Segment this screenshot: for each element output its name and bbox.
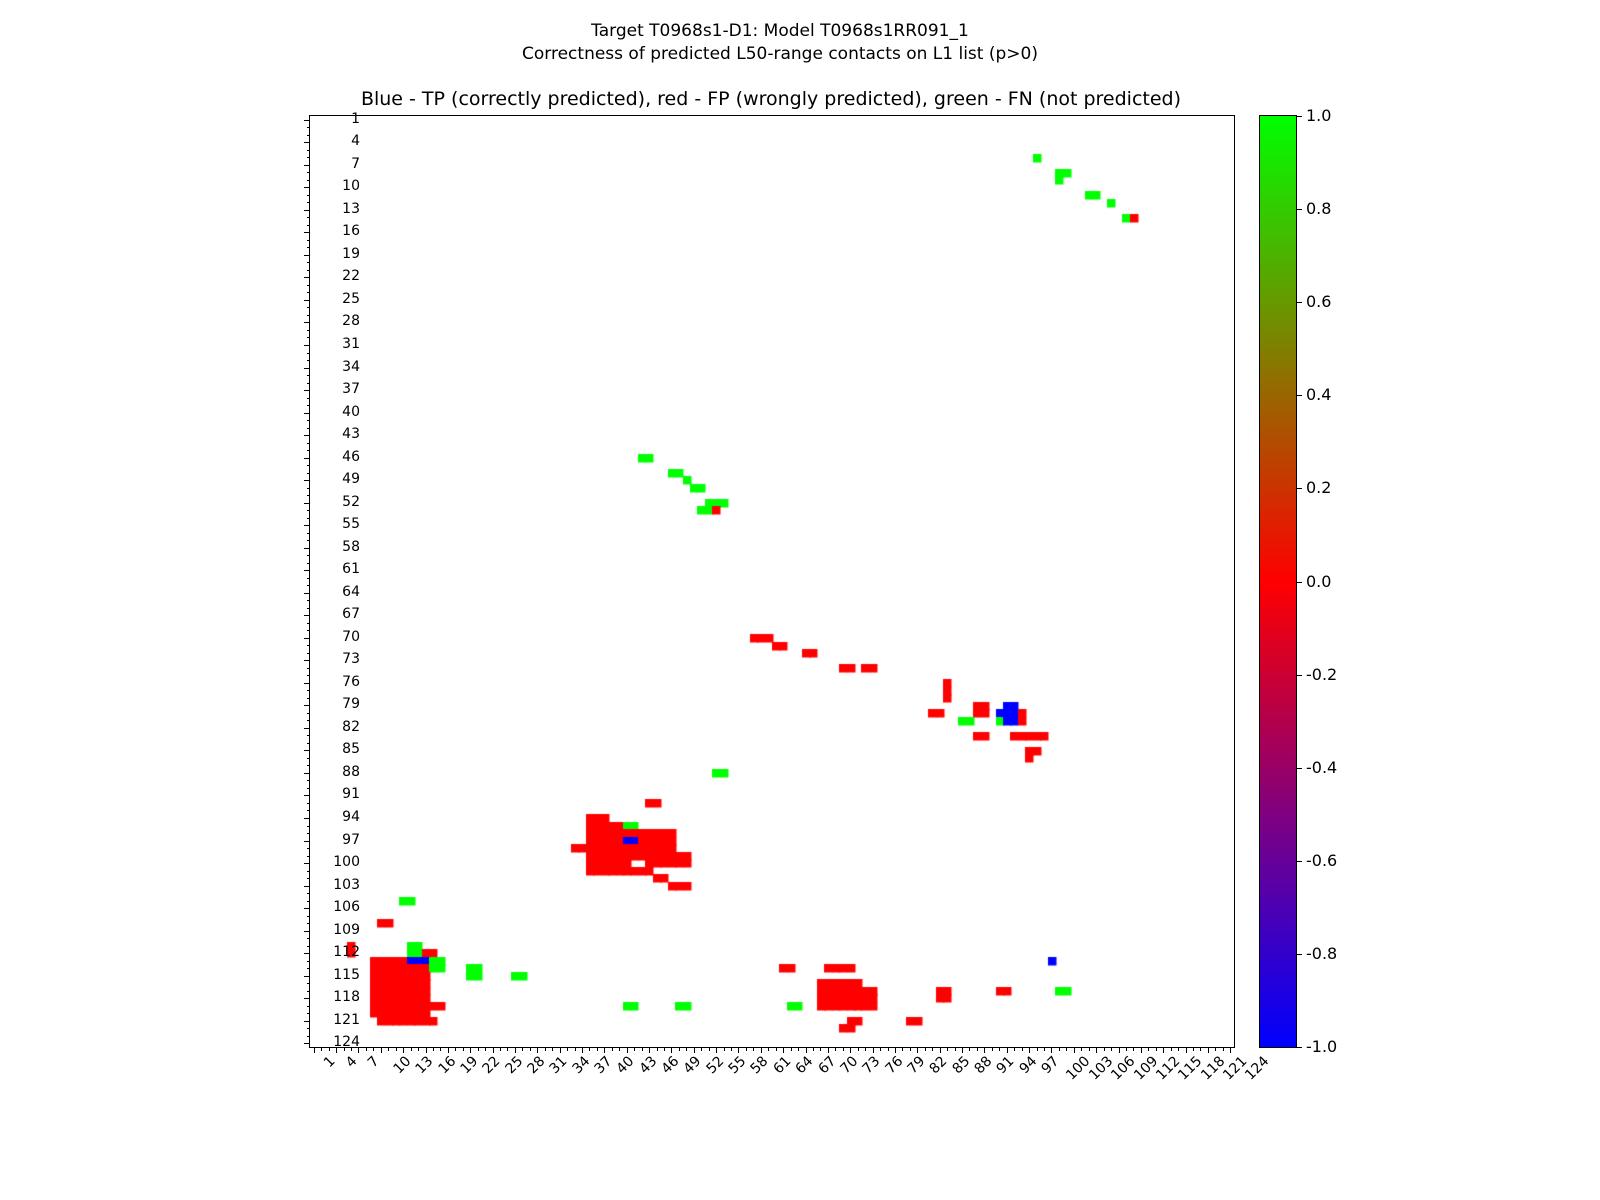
x-axis-major-tick [403,1047,404,1053]
x-axis-minor-tick [724,1047,725,1051]
x-axis-major-tick [1007,1047,1008,1053]
x-axis-minor-tick [1059,1047,1060,1051]
y-tick-label: 16 [300,224,360,238]
colorbar-gradient [1260,116,1296,1047]
x-tick-label: 67 [816,1054,839,1077]
y-tick-label: 106 [300,900,360,914]
x-axis-minor-tick [820,1047,821,1051]
colorbar-tick-label: -1.0 [1306,1039,1337,1055]
x-axis-minor-tick [1044,1047,1045,1051]
colorbar[interactable]: 1.00.80.60.40.20.0-0.2-0.4-0.6-0.8-1.0 [1259,115,1297,1048]
y-axis-minor-tick [307,871,311,872]
x-axis-major-tick [1163,1047,1164,1053]
x-axis-minor-tick [1200,1047,1201,1051]
x-axis-minor-tick [463,1047,464,1051]
y-tick-label: 13 [300,202,360,216]
y-axis-minor-tick [307,555,311,556]
x-axis-major-tick [1208,1047,1209,1053]
y-tick-label: 28 [300,314,360,328]
x-axis-minor-tick [567,1047,568,1051]
y-tick-label: 58 [300,540,360,554]
y-axis-minor-tick [307,713,311,714]
x-tick-label: 13 [413,1054,436,1077]
x-tick-label: 19 [458,1054,481,1077]
x-axis-minor-tick [545,1047,546,1051]
x-axis-major-tick [828,1047,829,1053]
x-axis-minor-tick [947,1047,948,1051]
colorbar-tick [1296,861,1302,862]
y-tick-label: 46 [300,450,360,464]
x-axis-minor-tick [440,1047,441,1051]
x-axis-minor-tick [411,1047,412,1051]
x-axis-minor-tick [485,1047,486,1051]
x-axis-minor-tick [388,1047,389,1051]
y-tick-label: 112 [300,945,360,959]
y-tick-label: 1 [300,112,360,126]
y-axis-minor-tick [307,938,311,939]
x-axis-minor-tick [1156,1047,1157,1051]
y-tick-label: 25 [300,292,360,306]
x-axis-minor-tick [455,1047,456,1051]
x-tick-label: 88 [972,1054,995,1077]
colorbar-tick [1296,488,1302,489]
y-tick-label: 40 [300,405,360,419]
x-axis-major-tick [649,1047,650,1053]
x-axis-minor-tick [1066,1047,1067,1051]
colorbar-tick-label: 0.2 [1306,480,1331,496]
y-axis-minor-tick [307,826,311,827]
x-axis-major-tick [470,1047,471,1053]
x-axis-minor-tick [530,1047,531,1051]
y-axis-minor-tick [307,443,311,444]
x-axis-minor-tick [776,1047,777,1051]
y-axis-minor-tick [307,172,311,173]
x-axis-minor-tick [858,1047,859,1051]
x-axis-minor-tick [999,1047,1000,1051]
x-axis-minor-tick [902,1047,903,1051]
x-tick-label: 37 [592,1054,615,1077]
y-axis-minor-tick [307,780,311,781]
x-axis-minor-tick [500,1047,501,1051]
x-axis-minor-tick [1133,1047,1134,1051]
x-tick-label: 7 [366,1054,382,1070]
y-tick-label: 85 [300,742,360,756]
figure-suptitle: Target T0968s1-D1: Model T0968s1RR091_1 … [0,20,1560,66]
y-tick-label: 19 [300,247,360,261]
x-axis-minor-tick [597,1047,598,1051]
contact-map-plot-area[interactable] [309,115,1235,1048]
y-tick-label: 118 [300,990,360,1004]
y-tick-label: 100 [300,855,360,869]
y-tick-label: 37 [300,382,360,396]
x-axis-minor-tick [366,1047,367,1051]
y-axis-minor-tick [307,623,311,624]
x-axis-minor-tick [575,1047,576,1051]
x-axis-minor-tick [1037,1047,1038,1051]
x-axis-major-tick [515,1047,516,1053]
x-tick-label: 64 [793,1054,816,1077]
y-axis-minor-tick [307,420,311,421]
x-axis-minor-tick [880,1047,881,1051]
x-tick-label: 10 [391,1054,414,1077]
x-axis-minor-tick [642,1047,643,1051]
x-tick-label: 25 [503,1054,526,1077]
x-axis-major-tick [694,1047,695,1053]
y-tick-label: 76 [300,675,360,689]
y-axis-minor-tick [307,1006,311,1007]
axes-title-legend: Blue - TP (correctly predicted), red - F… [309,88,1233,110]
y-tick-label: 55 [300,517,360,531]
x-axis-minor-tick [507,1047,508,1051]
x-axis-minor-tick [1089,1047,1090,1051]
x-axis-minor-tick [1171,1047,1172,1051]
x-axis-major-tick [627,1047,628,1053]
y-axis-minor-tick [307,307,311,308]
y-tick-label: 43 [300,427,360,441]
x-axis-major-tick [493,1047,494,1053]
colorbar-tick [1296,768,1302,769]
y-axis-minor-tick [307,645,311,646]
y-tick-label: 49 [300,472,360,486]
x-axis-minor-tick [843,1047,844,1051]
y-tick-label: 103 [300,878,360,892]
x-tick-label: 73 [860,1054,883,1077]
y-tick-label: 82 [300,720,360,734]
x-axis-minor-tick [1215,1047,1216,1051]
x-axis-major-tick [873,1047,874,1053]
y-axis-minor-tick [307,533,311,534]
y-axis-minor-tick [307,240,311,241]
colorbar-tick-label: -0.6 [1306,853,1337,869]
y-axis-minor-tick [307,578,311,579]
x-axis-minor-tick [612,1047,613,1051]
x-axis-minor-tick [791,1047,792,1051]
x-axis-major-tick [1051,1047,1052,1053]
colorbar-tick-label: 0.0 [1306,574,1331,590]
x-axis-major-tick [426,1047,427,1053]
x-axis-major-tick [984,1047,985,1053]
colorbar-tick [1296,1047,1302,1048]
contact-map-canvas[interactable] [310,116,1234,1047]
x-tick-label: 124 [1243,1054,1272,1083]
x-axis-minor-tick [1014,1047,1015,1051]
x-axis-minor-tick [865,1047,866,1051]
x-axis-major-tick [1119,1047,1120,1053]
x-axis-minor-tick [955,1047,956,1051]
colorbar-tick-label: 0.8 [1306,201,1331,217]
x-axis-minor-tick [522,1047,523,1051]
y-axis-minor-tick [307,961,311,962]
y-axis-minor-tick [307,465,311,466]
y-tick-label: 52 [300,495,360,509]
x-axis-major-tick [604,1047,605,1053]
x-axis-major-tick [671,1047,672,1053]
y-axis-minor-tick [307,353,311,354]
y-axis-minor-tick [307,217,311,218]
y-tick-label: 70 [300,630,360,644]
y-tick-label: 67 [300,607,360,621]
y-tick-label: 22 [300,269,360,283]
x-axis-minor-tick [373,1047,374,1051]
x-tick-label: 70 [838,1054,861,1077]
x-axis-major-tick [1230,1047,1231,1053]
x-tick-label: 49 [682,1054,705,1077]
x-axis-minor-tick [657,1047,658,1051]
colorbar-tick-label: 1.0 [1306,108,1331,124]
x-axis-major-tick [940,1047,941,1053]
y-axis-minor-tick [307,375,311,376]
y-tick-label: 61 [300,562,360,576]
y-axis-minor-tick [307,150,311,151]
y-axis-minor-tick [307,735,311,736]
x-axis-major-tick [1029,1047,1030,1053]
x-axis-minor-tick [977,1047,978,1051]
y-tick-label: 124 [300,1035,360,1049]
x-axis-minor-tick [1178,1047,1179,1051]
x-tick-label: 94 [1017,1054,1040,1077]
y-axis-minor-tick [307,195,311,196]
x-axis-major-tick [850,1047,851,1053]
x-axis-minor-tick [969,1047,970,1051]
x-axis-major-tick [1141,1047,1142,1053]
x-axis-major-tick [1096,1047,1097,1053]
x-axis-minor-tick [932,1047,933,1051]
colorbar-tick [1296,954,1302,955]
x-axis-minor-tick [418,1047,419,1051]
x-axis-minor-tick [478,1047,479,1051]
x-axis-major-tick [783,1047,784,1053]
colorbar-tick [1296,209,1302,210]
x-axis-minor-tick [910,1047,911,1051]
x-axis-minor-tick [619,1047,620,1051]
x-axis-minor-tick [992,1047,993,1051]
y-tick-label: 91 [300,787,360,801]
x-axis-major-tick [761,1047,762,1053]
y-tick-label: 109 [300,923,360,937]
x-axis-major-tick [738,1047,739,1053]
y-axis-minor-tick [307,600,311,601]
x-tick-label: 58 [749,1054,772,1077]
x-axis-major-tick [917,1047,918,1053]
y-tick-label: 10 [300,179,360,193]
y-axis-minor-tick [307,285,311,286]
x-axis-minor-tick [731,1047,732,1051]
x-tick-label: 22 [480,1054,503,1077]
y-axis-minor-tick [307,893,311,894]
y-tick-label: 64 [300,585,360,599]
x-tick-label: 79 [905,1054,928,1077]
x-tick-label: 61 [771,1054,794,1077]
x-tick-label: 40 [615,1054,638,1077]
x-tick-label: 76 [883,1054,906,1077]
y-axis-minor-tick [307,1028,311,1029]
y-axis-minor-tick [307,262,311,263]
x-tick-label: 34 [570,1054,593,1077]
x-axis-minor-tick [753,1047,754,1051]
x-tick-label: 1 [321,1054,337,1070]
x-axis-minor-tick [1223,1047,1224,1051]
x-axis-minor-tick [1104,1047,1105,1051]
y-axis-minor-tick [307,758,311,759]
x-axis-minor-tick [433,1047,434,1051]
x-axis-minor-tick [679,1047,680,1051]
x-tick-label: 4 [344,1054,360,1070]
x-axis-minor-tick [664,1047,665,1051]
x-axis-minor-tick [701,1047,702,1051]
y-tick-label: 4 [300,134,360,148]
x-axis-major-tick [560,1047,561,1053]
x-axis-minor-tick [888,1047,889,1051]
x-axis-minor-tick [798,1047,799,1051]
x-axis-minor-tick [746,1047,747,1051]
x-tick-label: 85 [950,1054,973,1077]
x-axis-minor-tick [396,1047,397,1051]
y-tick-label: 7 [300,157,360,171]
y-tick-label: 34 [300,360,360,374]
y-tick-label: 31 [300,337,360,351]
colorbar-tick-label: -0.8 [1306,946,1337,962]
colorbar-tick [1296,582,1302,583]
x-tick-label: 52 [704,1054,727,1077]
x-axis-minor-tick [1148,1047,1149,1051]
y-tick-label: 94 [300,810,360,824]
x-tick-label: 31 [547,1054,570,1077]
y-axis-minor-tick [307,330,311,331]
x-axis-minor-tick [552,1047,553,1051]
x-axis-minor-tick [686,1047,687,1051]
y-tick-label: 73 [300,652,360,666]
x-tick-label: 91 [995,1054,1018,1077]
x-axis-major-tick [716,1047,717,1053]
x-axis-major-tick [537,1047,538,1053]
x-tick-label: 28 [525,1054,548,1077]
x-tick-label: 97 [1039,1054,1062,1077]
colorbar-tick [1296,116,1302,117]
x-axis-minor-tick [925,1047,926,1051]
y-tick-label: 97 [300,833,360,847]
x-axis-major-tick [806,1047,807,1053]
colorbar-tick [1296,675,1302,676]
x-axis-major-tick [1186,1047,1187,1053]
x-axis-minor-tick [768,1047,769,1051]
x-axis-minor-tick [1126,1047,1127,1051]
x-tick-label: 82 [928,1054,951,1077]
x-axis-minor-tick [709,1047,710,1051]
x-axis-minor-tick [1081,1047,1082,1051]
x-tick-label: 46 [659,1054,682,1077]
colorbar-tick [1296,302,1302,303]
y-axis-minor-tick [307,916,311,917]
y-axis-minor-tick [307,488,311,489]
x-axis-minor-tick [1022,1047,1023,1051]
colorbar-tick-label: 0.6 [1306,294,1331,310]
y-axis-minor-tick [307,398,311,399]
contact-map-figure: Target T0968s1-D1: Model T0968s1RR091_1 … [0,0,1600,1200]
x-axis-minor-tick [1193,1047,1194,1051]
x-axis-major-tick [381,1047,382,1053]
x-tick-label: 16 [436,1054,459,1077]
y-tick-label: 115 [300,968,360,982]
x-axis-minor-tick [634,1047,635,1051]
y-axis-minor-tick [307,668,311,669]
x-axis-minor-tick [813,1047,814,1051]
y-axis-minor-tick [307,983,311,984]
y-tick-label: 121 [300,1013,360,1027]
y-axis-minor-tick [307,510,311,511]
colorbar-tick-label: -0.2 [1306,667,1337,683]
colorbar-tick [1296,395,1302,396]
x-axis-minor-tick [835,1047,836,1051]
colorbar-tick-label: -0.4 [1306,760,1337,776]
colorbar-tick-label: 0.4 [1306,387,1331,403]
y-axis-minor-tick [307,803,311,804]
y-axis-minor-tick [307,127,311,128]
y-tick-label: 79 [300,697,360,711]
x-tick-label: 43 [637,1054,660,1077]
x-axis-major-tick [1074,1047,1075,1053]
y-tick-label: 88 [300,765,360,779]
x-axis-minor-tick [589,1047,590,1051]
x-axis-minor-tick [1111,1047,1112,1051]
x-axis-major-tick [962,1047,963,1053]
x-tick-label: 55 [726,1054,749,1077]
y-axis-minor-tick [307,848,311,849]
y-axis-minor-tick [307,690,311,691]
